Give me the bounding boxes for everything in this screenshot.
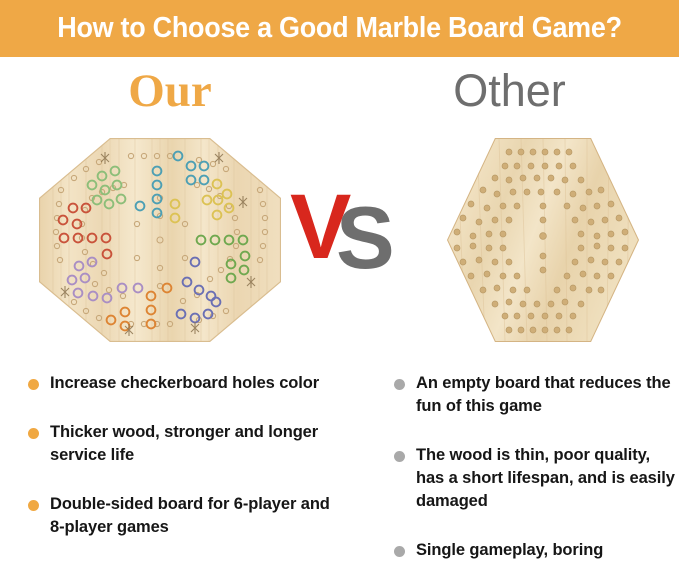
- hexagon-marble-board-icon: [447, 138, 639, 342]
- column-heading-our: Our: [0, 64, 340, 118]
- page-title: How to Choose a Good Marble Board Game?: [57, 12, 622, 45]
- versus-s-letter: S: [336, 188, 395, 272]
- bullet-dot-icon: [28, 379, 39, 390]
- bullet-dot-icon: [394, 379, 405, 390]
- list-item-label: Increase checkerboard holes color: [50, 372, 319, 395]
- list-item-label: Thicker wood, stronger and longer servic…: [50, 421, 344, 467]
- versus-badge-icon: V S: [288, 176, 400, 272]
- list-item-label: An empty board that reduces the fun of t…: [416, 372, 676, 418]
- list-item-label: The wood is thin, poor quality, has a sh…: [416, 444, 676, 513]
- benefits-list-our: Increase checkerboard holes color Thicke…: [28, 372, 344, 565]
- bullet-dot-icon: [394, 451, 405, 462]
- list-item: Double-sided board for 6-player and 8-pl…: [28, 493, 344, 539]
- list-item: The wood is thin, poor quality, has a sh…: [394, 444, 676, 513]
- list-item: Single gameplay, boring: [394, 539, 676, 562]
- list-item: Thicker wood, stronger and longer servic…: [28, 421, 344, 467]
- bullet-dot-icon: [394, 546, 405, 557]
- list-item-label: Single gameplay, boring: [416, 539, 603, 562]
- list-item-label: Double-sided board for 6-player and 8-pl…: [50, 493, 344, 539]
- header-banner: How to Choose a Good Marble Board Game?: [0, 0, 679, 57]
- drawbacks-list-other: An empty board that reduces the fun of t…: [394, 372, 676, 588]
- bullet-dot-icon: [28, 428, 39, 439]
- column-heading-other: Other: [340, 64, 679, 118]
- bullet-dot-icon: [28, 500, 39, 511]
- octagon-marble-board-icon: [39, 138, 281, 342]
- list-item: An empty board that reduces the fun of t…: [394, 372, 676, 418]
- list-item: Increase checkerboard holes color: [28, 372, 344, 395]
